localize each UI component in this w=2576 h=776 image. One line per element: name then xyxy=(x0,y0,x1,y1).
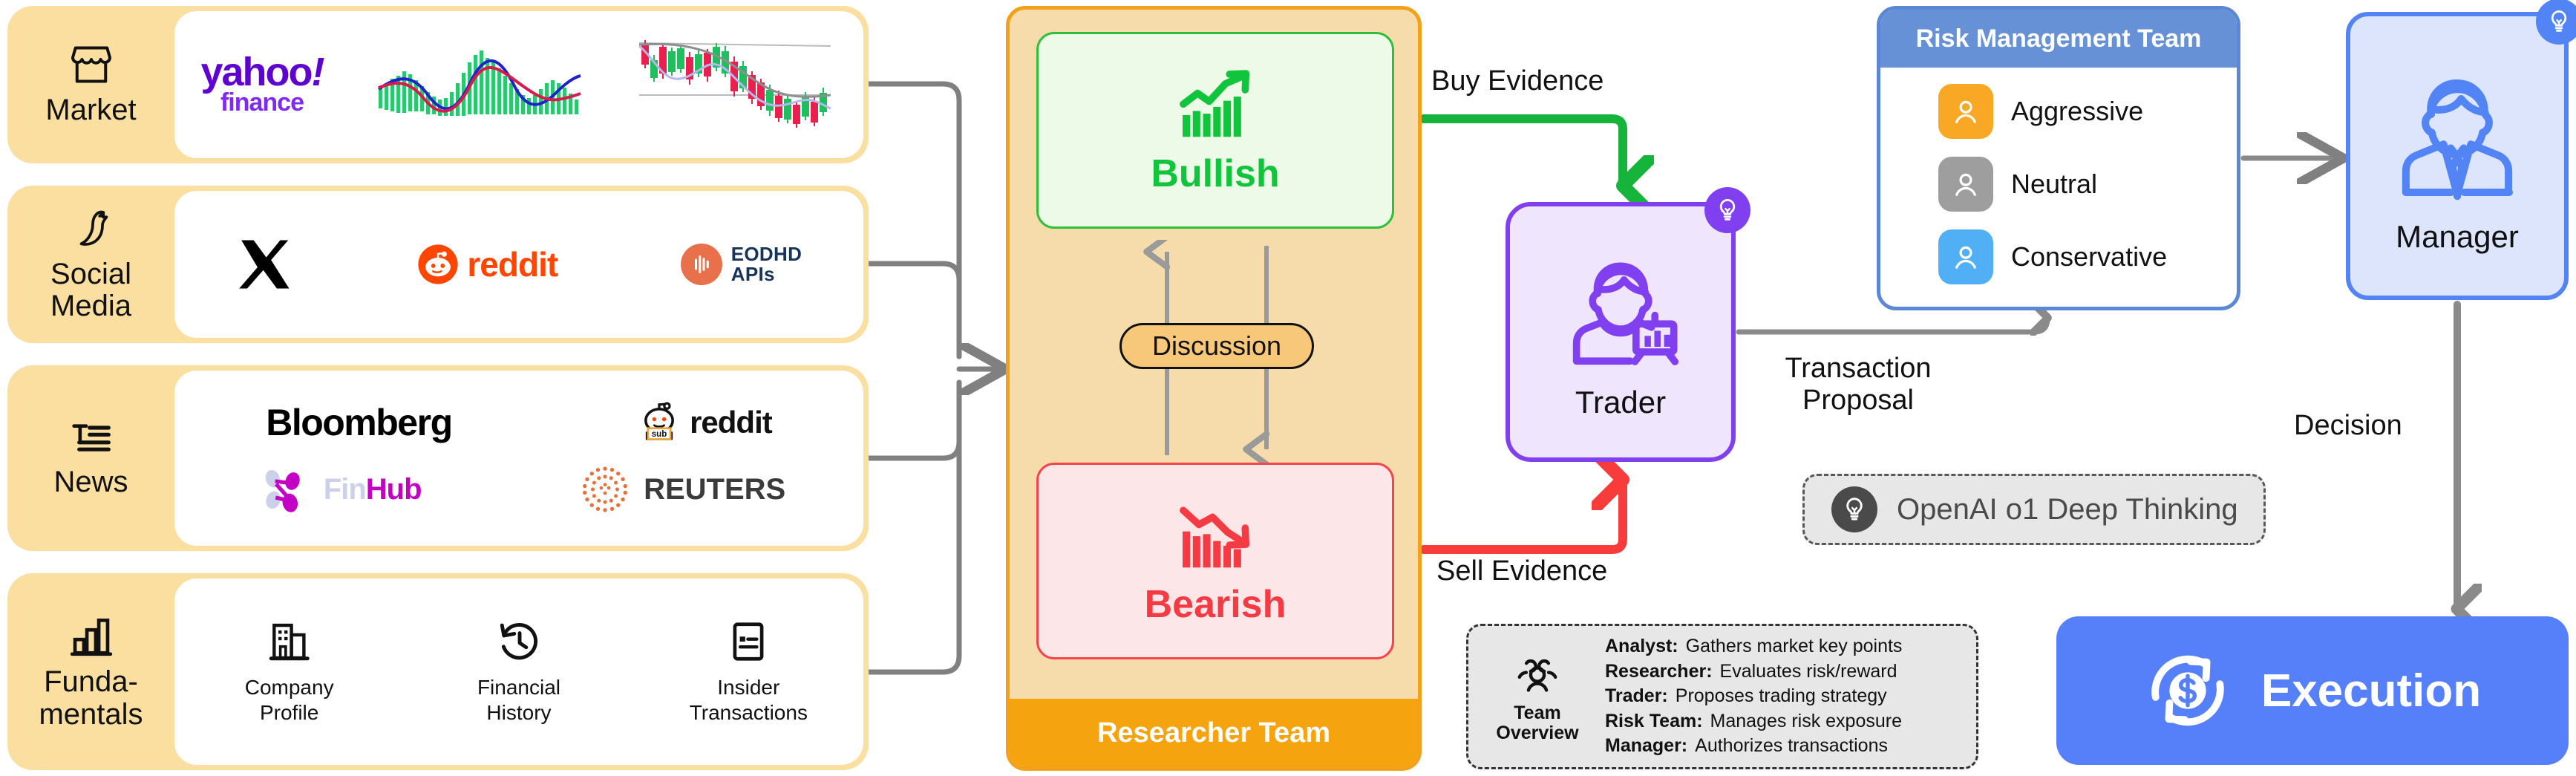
finhub-logo[interactable]: FinHub xyxy=(252,460,422,518)
source-body-news: Bloomberg sub reddit xyxy=(174,371,863,546)
edge-label-decision: Decision xyxy=(2294,410,2402,442)
reuters-dots-icon xyxy=(577,461,633,518)
risk-member-label: Conservative xyxy=(2011,241,2167,273)
source-row-news[interactable]: News Bloomberg sub reddit xyxy=(7,365,869,551)
reddit-logo[interactable]: reddit xyxy=(416,243,558,286)
building-icon xyxy=(267,619,313,665)
subreddit-alien-icon: sub xyxy=(635,398,684,447)
risk-member-aggressive[interactable]: Aggressive xyxy=(1938,84,2237,139)
bearish-researcher-card[interactable]: Bearish xyxy=(1036,463,1394,659)
source-row-fundamentals[interactable]: Funda- mentals Company Profile xyxy=(7,573,869,770)
source-label-text: News xyxy=(53,466,128,498)
overview-row: Trader:Proposes trading strategy xyxy=(1605,685,1966,708)
risk-team-title: Risk Management Team xyxy=(1880,10,2237,68)
risk-member-neutral[interactable]: Neutral xyxy=(1938,157,2237,212)
people-group-icon xyxy=(1510,650,1565,699)
twitter-bird-icon xyxy=(68,206,114,251)
fundamentals-company-profile[interactable]: Company Profile xyxy=(200,619,379,725)
source-label-social-media: Social Media xyxy=(7,186,174,343)
trend-up-bars-icon xyxy=(1167,65,1264,147)
edge-label-sell-evidence: Sell Evidence xyxy=(1436,555,1607,587)
overview-row: Analyst:Gathers market key points xyxy=(1605,635,1966,659)
source-body-social-media: reddit EODHD APIs xyxy=(174,191,863,338)
source-row-market[interactable]: Market yahoo! finance xyxy=(7,6,869,163)
fund-item-label: Financial History xyxy=(477,675,560,725)
execution-label: Execution xyxy=(2261,665,2481,717)
bearish-label: Bearish xyxy=(1145,582,1287,627)
source-label-text: Market xyxy=(45,94,136,126)
source-body-fundamentals: Company Profile Financial History xyxy=(174,578,863,765)
reuters-logo[interactable]: REUTERS xyxy=(577,461,785,518)
risk-management-team-panel[interactable]: Risk Management Team Aggressive Neutral xyxy=(1877,6,2240,310)
bar-chart-icon xyxy=(68,613,114,659)
source-label-fundamentals: Funda- mentals xyxy=(7,573,174,770)
candlestick-chart xyxy=(636,33,837,137)
volume-bars-chart xyxy=(376,40,583,129)
dollar-refresh-icon xyxy=(2144,647,2232,734)
risk-team-member-list: Aggressive Neutral Conservative xyxy=(1880,68,2237,284)
trend-down-bars-icon xyxy=(1167,496,1264,578)
openai-deep-thinking-badge: OpenAI o1 Deep Thinking xyxy=(1802,474,2266,545)
edge-label-transaction-proposal: Transaction Proposal xyxy=(1765,353,1951,416)
lightbulb-icon xyxy=(2536,0,2576,45)
source-label-text: Funda- mentals xyxy=(39,666,143,730)
source-label-news: News xyxy=(7,365,174,551)
edge-label-buy-evidence: Buy Evidence xyxy=(1431,65,1604,97)
source-label-market: Market xyxy=(7,6,174,163)
subreddit-logo[interactable]: sub reddit xyxy=(635,398,772,447)
svg-text:sub: sub xyxy=(652,430,667,439)
team-overview-rows: Analyst:Gathers market key points Resear… xyxy=(1605,635,1966,758)
history-clock-icon xyxy=(496,619,542,665)
overview-row: Researcher:Evaluates risk/reward xyxy=(1605,660,1966,684)
risk-member-label: Neutral xyxy=(2011,169,2097,200)
eodhd-apis-logo[interactable]: EODHD APIs xyxy=(681,244,802,285)
source-row-social-media[interactable]: Social Media reddit xyxy=(7,186,869,343)
source-body-market: yahoo! finance xyxy=(174,11,863,158)
risk-member-label: Aggressive xyxy=(2011,96,2143,127)
article-text-icon xyxy=(68,417,115,459)
overview-row: Manager:Authorizes transactions xyxy=(1605,734,1966,758)
document-lines-icon xyxy=(725,619,771,665)
researcher-team-footer: Researcher Team xyxy=(1010,699,1418,767)
bullish-label: Bullish xyxy=(1151,151,1279,196)
eodhd-text: EODHD APIs xyxy=(731,244,802,285)
execution-card[interactable]: Execution xyxy=(2056,616,2569,765)
researcher-team-panel[interactable]: Bullish Discussion Bearish Researcher T xyxy=(1006,6,1422,771)
fund-item-label: Insider Transactions xyxy=(690,675,808,725)
trader-person-presentation-icon xyxy=(1550,244,1691,382)
manager-card[interactable]: Manager xyxy=(2346,12,2569,300)
lightbulb-icon xyxy=(1704,187,1750,233)
finhub-text: FinHub xyxy=(324,473,422,506)
finhub-mark-icon xyxy=(252,460,316,518)
risk-member-conservative[interactable]: Conservative xyxy=(1938,229,2237,284)
source-label-text: Social Media xyxy=(50,258,131,322)
team-overview-title: Team Overview xyxy=(1496,703,1578,744)
fundamentals-financial-history[interactable]: Financial History xyxy=(430,619,608,725)
fund-item-label: Company Profile xyxy=(245,675,334,725)
yahoo-finance-logo[interactable]: yahoo! finance xyxy=(200,55,323,114)
fundamentals-insider-transactions[interactable]: Insider Transactions xyxy=(659,619,837,725)
person-icon xyxy=(1938,84,1993,139)
person-icon xyxy=(1938,229,1993,284)
discussion-pill[interactable]: Discussion xyxy=(1119,323,1314,369)
manager-label: Manager xyxy=(2396,219,2519,255)
lightbulb-icon xyxy=(1831,486,1877,532)
bullish-researcher-card[interactable]: Bullish xyxy=(1036,32,1394,229)
reddit-alien-icon xyxy=(416,243,460,286)
manager-suit-icon xyxy=(2379,58,2535,218)
team-overview-legend: Team Overview Analyst:Gathers market key… xyxy=(1466,624,1978,769)
overview-row: Risk Team:Manages risk exposure xyxy=(1605,710,1966,734)
bloomberg-logo[interactable]: Bloomberg xyxy=(266,401,451,444)
team-overview-left: Team Overview xyxy=(1482,650,1593,744)
openai-badge-label: OpenAI o1 Deep Thinking xyxy=(1897,493,2238,526)
x-logo[interactable] xyxy=(236,235,294,293)
storefront-icon xyxy=(68,42,115,87)
trader-label: Trader xyxy=(1575,385,1666,420)
trader-card[interactable]: Trader xyxy=(1506,202,1736,462)
eodhd-mark-icon xyxy=(681,244,722,285)
person-icon xyxy=(1938,157,1993,212)
